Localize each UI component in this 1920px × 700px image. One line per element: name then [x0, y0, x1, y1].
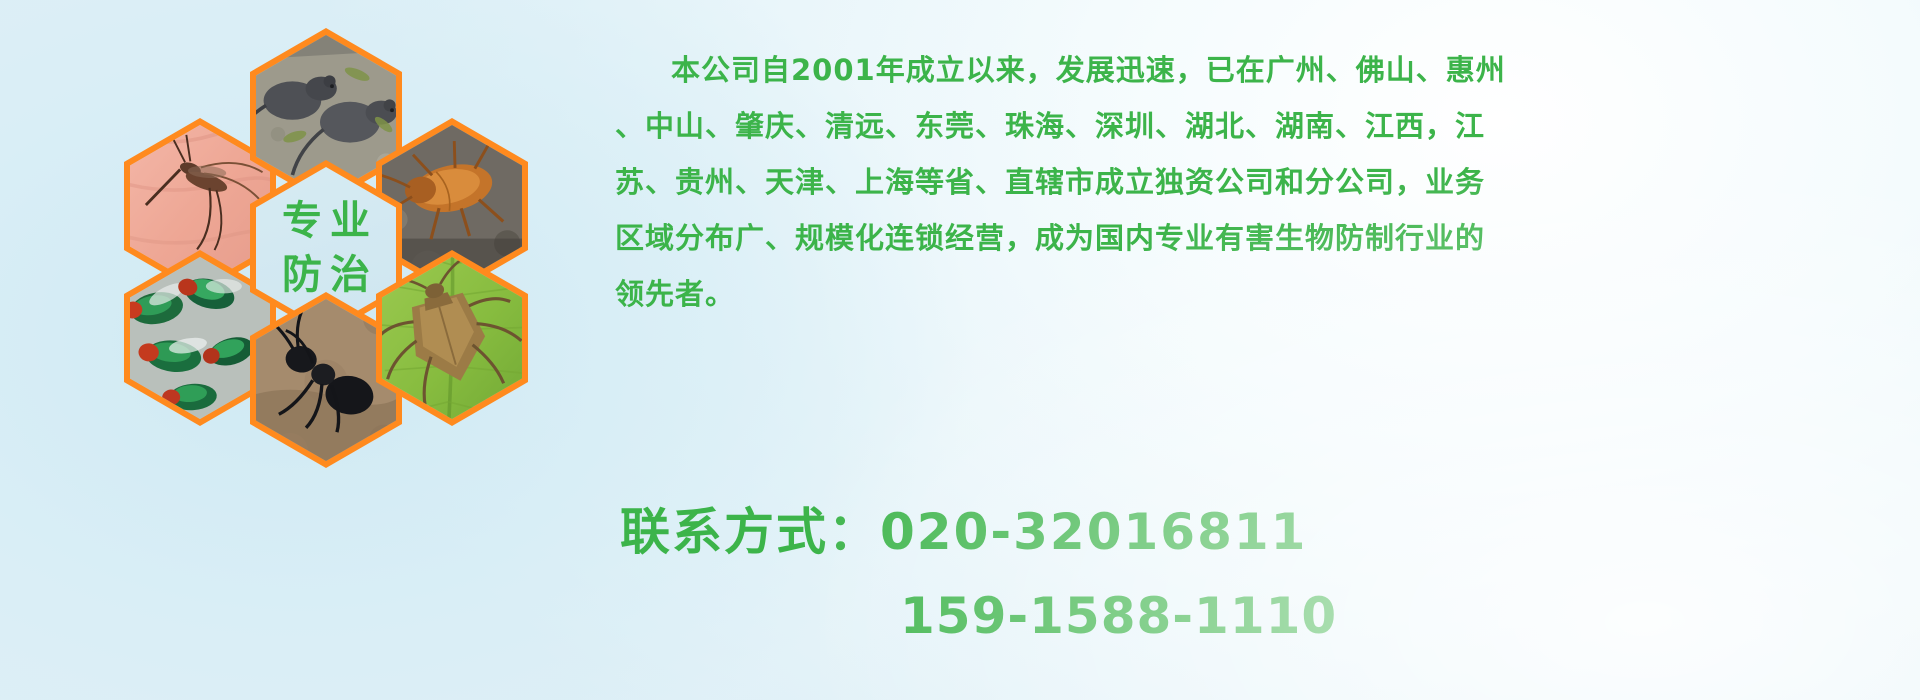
description-line-3: 苏、贵州、天津、上海等省、直辖市成立独资公司和分公司，业务 [615, 154, 1355, 210]
ant-photo [256, 299, 396, 461]
logo-line-1: 专业 [274, 194, 378, 248]
ant-icon [256, 299, 396, 461]
honeycomb-image-cluster: 专业 防治 [92, 10, 592, 570]
contact-block: 联系方式：020-32016811 159-1588-1110 [620, 490, 1420, 658]
stinkbug-photo [382, 257, 522, 419]
company-description: 本公司自2001年成立以来，发展迅速，已在广州、佛山、惠州 、中山、肇庆、清远、… [615, 42, 1355, 322]
flies-photo [130, 257, 270, 419]
contact-phone-secondary[interactable]: 159-1588-1110 [620, 574, 1420, 658]
description-line-2: 、中山、肇庆、清远、东莞、珠海、深圳、湖北、湖南、江西，江 [615, 98, 1355, 154]
description-line-4: 区域分布广、规模化连锁经营，成为国内专业有害生物防制行业的 [615, 210, 1355, 266]
description-line-1: 本公司自2001年成立以来，发展迅速，已在广州、佛山、惠州 [615, 42, 1355, 98]
stinkbug-icon [382, 257, 522, 419]
promo-banner: 专业 防治 [0, 0, 1920, 700]
contact-phone-primary[interactable]: 联系方式：020-32016811 [620, 490, 1420, 574]
description-line-5: 领先者。 [615, 266, 1355, 322]
flies-icon [130, 257, 270, 419]
